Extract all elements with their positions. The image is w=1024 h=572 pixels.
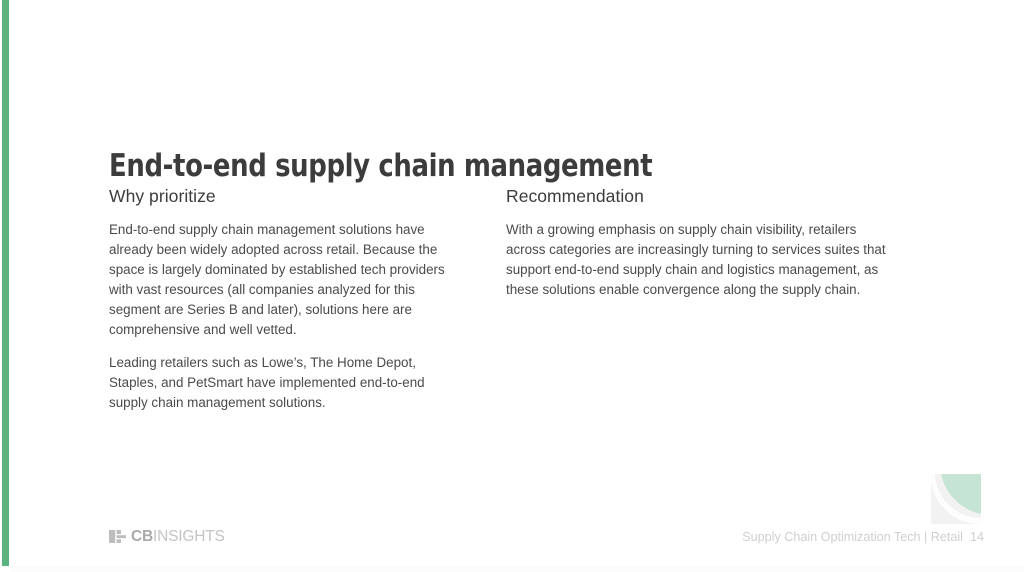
cb-insights-blocks-icon — [109, 530, 126, 543]
page-number: 14 — [970, 530, 984, 544]
paragraph-why-prioritize-1: End-to-end supply chain management solut… — [109, 220, 461, 340]
page-title: End-to-end supply chain management — [109, 147, 652, 185]
paragraph-recommendation-1: With a growing emphasis on supply chain … — [506, 220, 890, 300]
wordmark-light: INSIGHTS — [153, 528, 225, 545]
left-accent-bar — [2, 0, 9, 566]
slide-canvas: End-to-end supply chain management Why p… — [0, 0, 1024, 572]
bottom-edge-band — [9, 566, 1024, 572]
wordmark-strong: CB — [131, 528, 153, 545]
footer-caption: Supply Chain Optimization Tech | Retail1… — [742, 529, 984, 545]
column-recommendation: Recommendation With a growing emphasis o… — [506, 185, 890, 300]
column-heading-why-prioritize: Why prioritize — [109, 185, 461, 207]
green-arc-square-icon — [931, 474, 981, 524]
cb-insights-wordmark: CBINSIGHTS — [131, 529, 225, 544]
cb-insights-logo: CBINSIGHTS — [109, 527, 225, 545]
column-why-prioritize: Why prioritize End-to-end supply chain m… — [109, 185, 461, 413]
column-heading-recommendation: Recommendation — [506, 185, 890, 207]
paragraph-why-prioritize-2: Leading retailers such as Lowe’s, The Ho… — [109, 353, 461, 413]
footer-caption-text: Supply Chain Optimization Tech | Retail — [742, 530, 963, 544]
